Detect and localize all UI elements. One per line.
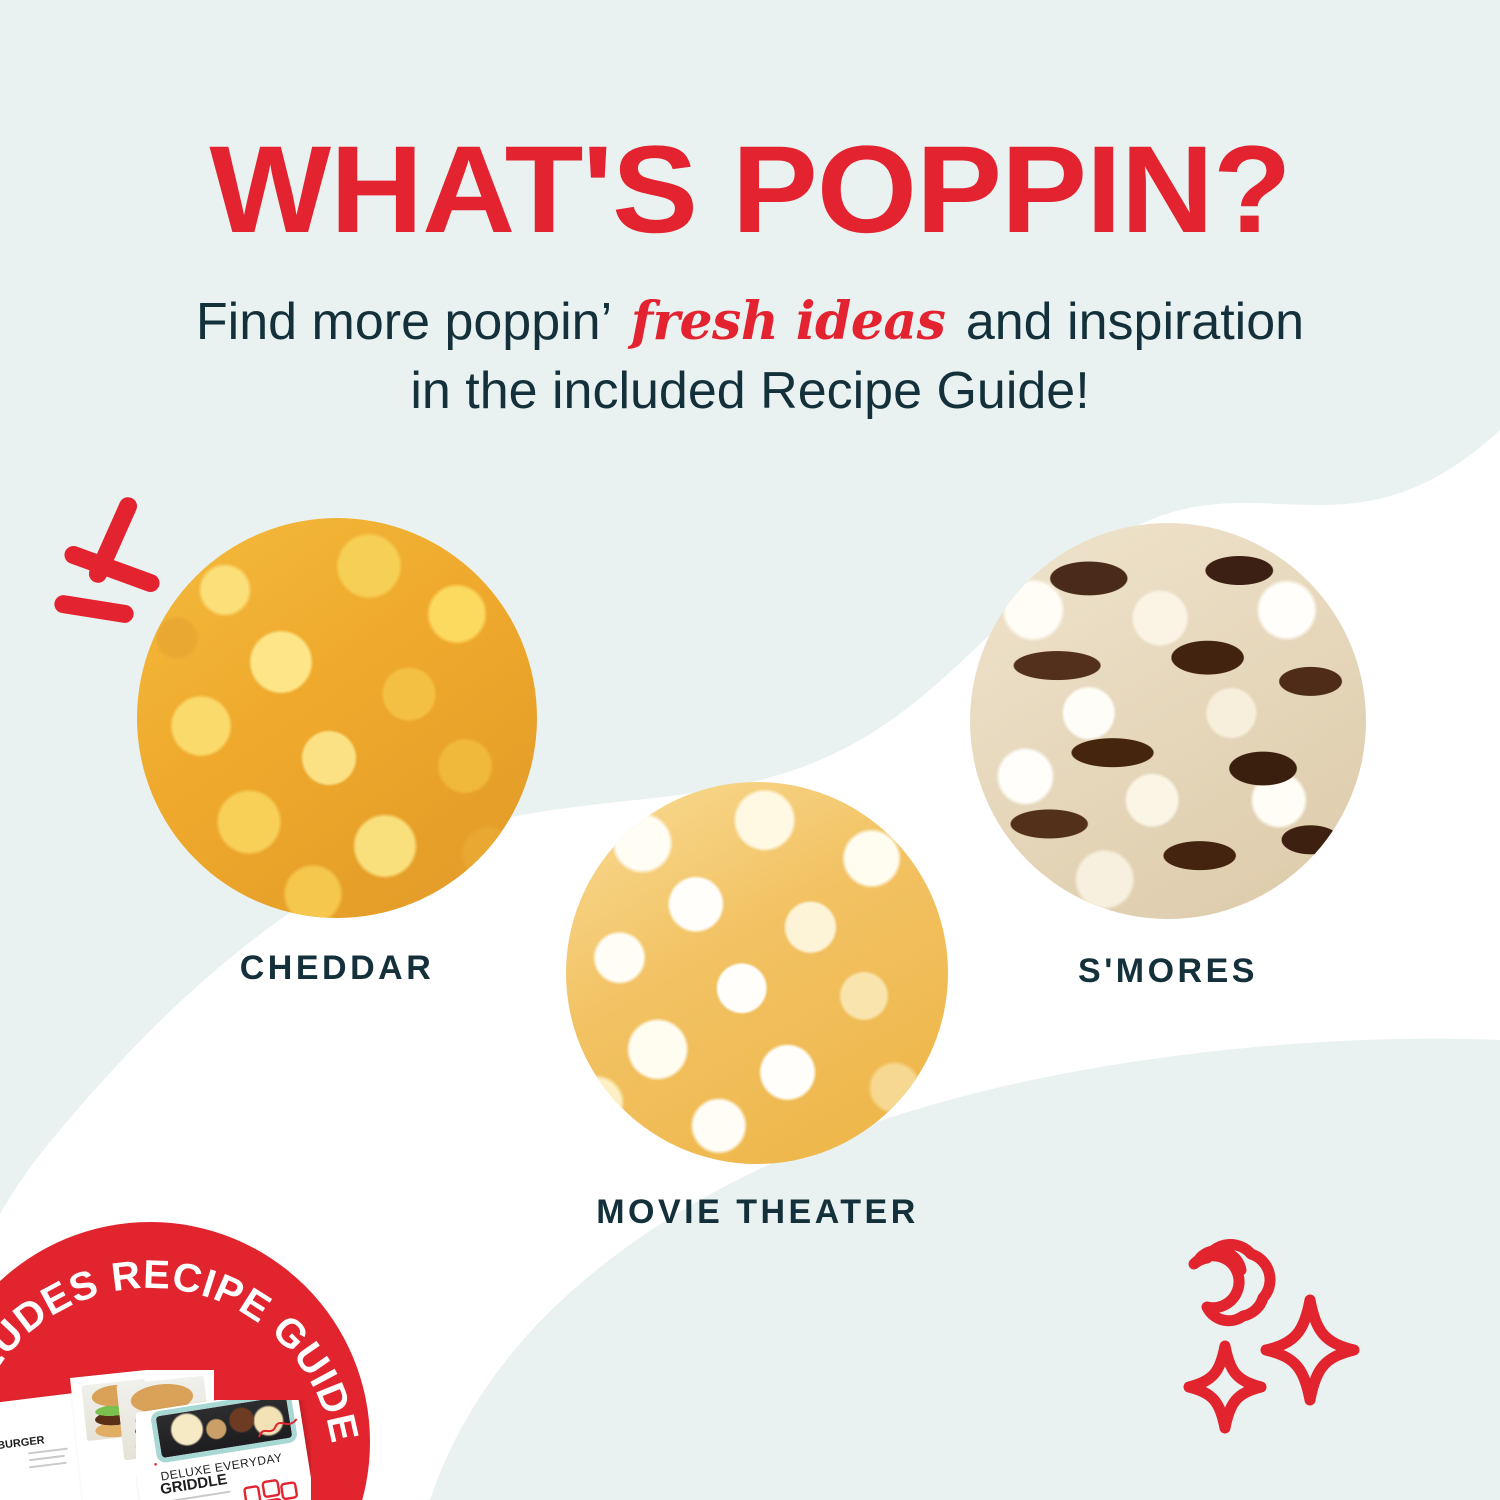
flavor-image-cheddar — [137, 518, 537, 918]
flavor-image-smores — [970, 523, 1366, 919]
movie-theater-popcorn-texture — [566, 782, 948, 1164]
manual-brand-mark: ● — [154, 1462, 159, 1468]
flavor-label-smores: S'MORES — [970, 952, 1366, 991]
flavor-label-cheddar: CHEDDAR — [137, 949, 537, 988]
flavor-label-movie-theater: MOVIE THEATER — [510, 1193, 1005, 1232]
flavor-image-movie-theater — [566, 782, 948, 1164]
sparkle-icon-large — [1266, 1300, 1354, 1400]
recipe-guide-badge[interactable]: INCLUDES RECIPE GUIDE CLASSIC CHEESEBURG… — [0, 1222, 390, 1500]
smores-popcorn-texture — [970, 523, 1366, 919]
promo-canvas: WHAT'S POPPIN? Find more poppin’ fresh i… — [0, 0, 1500, 1500]
subtitle-part-2: and inspiration — [966, 293, 1304, 351]
griddle-manual-cover: ● DELUXE EVERYDAY GRIDDLE — [136, 1400, 311, 1500]
subtitle: Find more poppin’ fresh ideas and inspir… — [0, 287, 1500, 426]
subtitle-line-2: in the included Recipe Guide! — [410, 362, 1089, 420]
subtitle-script-highlight: fresh ideas — [625, 291, 952, 352]
sparkle-icon-small — [1189, 1346, 1261, 1428]
popcorn-icon — [1194, 1244, 1270, 1320]
subtitle-part-1: Find more poppin’ — [196, 293, 610, 351]
cheddar-popcorn-texture — [137, 518, 537, 918]
popcorn-sparkle-icon-group — [1140, 1228, 1430, 1468]
page-title: WHAT'S POPPIN? — [0, 128, 1500, 252]
